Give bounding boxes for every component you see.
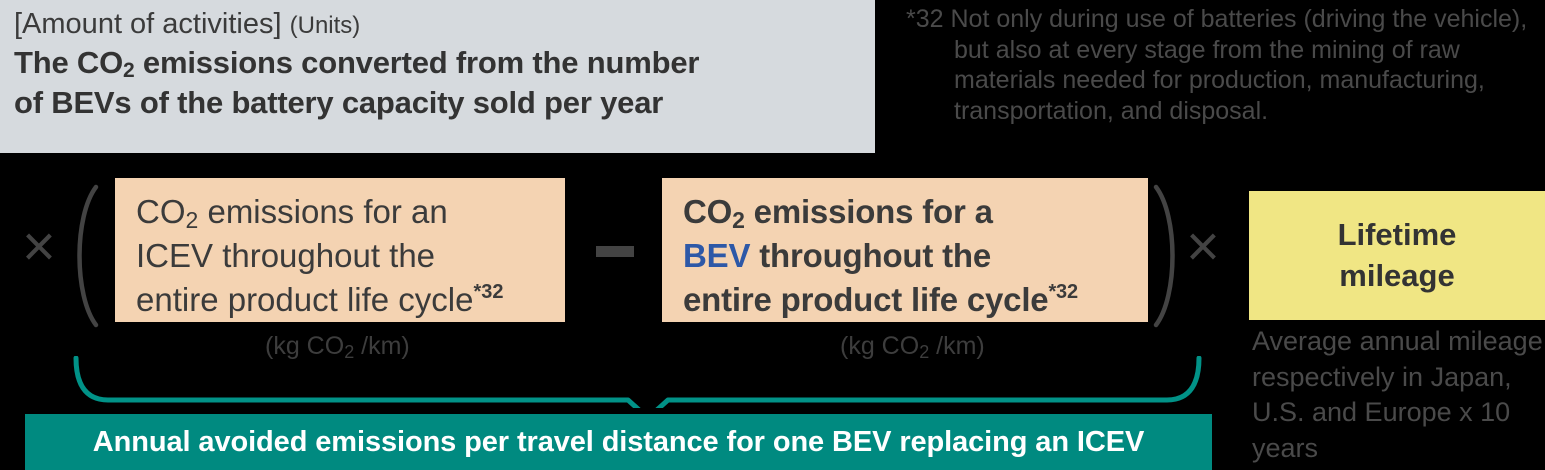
activities-bracket-label: [Amount of activities] <box>14 8 282 40</box>
bev-line-1: CO2 emissions for a <box>683 190 1148 234</box>
footnote-marker: *32 <box>906 5 944 33</box>
minus-icon <box>596 246 634 257</box>
lifetime-mileage-box: Lifetime mileage <box>1249 191 1545 320</box>
co2-subscript: 2 <box>186 207 199 233</box>
icev-emissions-box: CO2 emissions for an ICEV throughout the… <box>115 178 565 322</box>
bev-line-3: entire product life cycle*32 <box>683 278 1148 322</box>
bev-line-3-text: entire product life cycle <box>683 281 1048 318</box>
diagram-canvas: [Amount of activities] (Units) The CO2 e… <box>0 0 1545 470</box>
bev-line-1-a: CO <box>683 193 732 230</box>
icev-line-3: entire product life cycle*32 <box>136 278 565 322</box>
bev-emissions-box: CO2 emissions for a BEV throughout the e… <box>662 178 1148 322</box>
bev-highlight: BEV <box>683 237 750 274</box>
bev-line-1-b: emissions for a <box>745 193 993 230</box>
icev-line-1: CO2 emissions for an <box>136 190 565 234</box>
icev-line-3-text: entire product life cycle <box>136 281 474 318</box>
result-banner-text: Annual avoided emissions per travel dist… <box>93 426 1144 459</box>
icev-line-1-b: emissions for an <box>198 193 447 230</box>
bev-line-2-rest: throughout the <box>750 237 991 274</box>
footnote-ref-32: *32 <box>474 281 504 303</box>
activities-title: The CO2 emissions converted from the num… <box>14 43 875 122</box>
lifetime-mileage-note: Average annual mileage respectively in J… <box>1252 324 1545 467</box>
multiply-icon-right: × <box>1186 218 1220 276</box>
activities-units-label: (Units) <box>290 12 361 39</box>
footnote-32-body: *32 Not only during use of batteries (dr… <box>906 4 1545 126</box>
lifetime-mileage-line-1: Lifetime <box>1338 215 1457 255</box>
parenthesis-open-icon <box>62 182 104 330</box>
footnote-text: Not only during use of batteries (drivin… <box>951 5 1528 125</box>
activities-title-line-1-a: The CO <box>14 45 123 80</box>
grouping-brace-icon <box>70 356 1205 408</box>
footnote-32: *32 Not only during use of batteries (dr… <box>906 4 1545 126</box>
activities-title-line-2: of BEVs of the battery capacity sold per… <box>14 83 875 123</box>
result-banner: Annual avoided emissions per travel dist… <box>25 414 1212 470</box>
activities-title-line-1-b: emissions converted from the number <box>135 45 700 80</box>
parenthesis-close-icon <box>1148 182 1190 330</box>
lifetime-mileage-line-2: mileage <box>1338 256 1457 296</box>
multiply-icon-left: × <box>22 218 56 276</box>
lifetime-mileage-label: Lifetime mileage <box>1338 215 1457 296</box>
bev-line-2: BEV throughout the <box>683 234 1148 278</box>
icev-line-2: ICEV throughout the <box>136 234 565 278</box>
icev-line-1-a: CO <box>136 193 186 230</box>
activities-title-line-1: The CO2 emissions converted from the num… <box>14 43 875 83</box>
co2-subscript: 2 <box>732 207 745 233</box>
co2-subscript: 2 <box>123 59 134 82</box>
footnote-ref-32: *32 <box>1048 281 1077 303</box>
activities-bracket-line: [Amount of activities] (Units) <box>14 8 875 40</box>
activities-header-panel: [Amount of activities] (Units) The CO2 e… <box>0 0 875 153</box>
